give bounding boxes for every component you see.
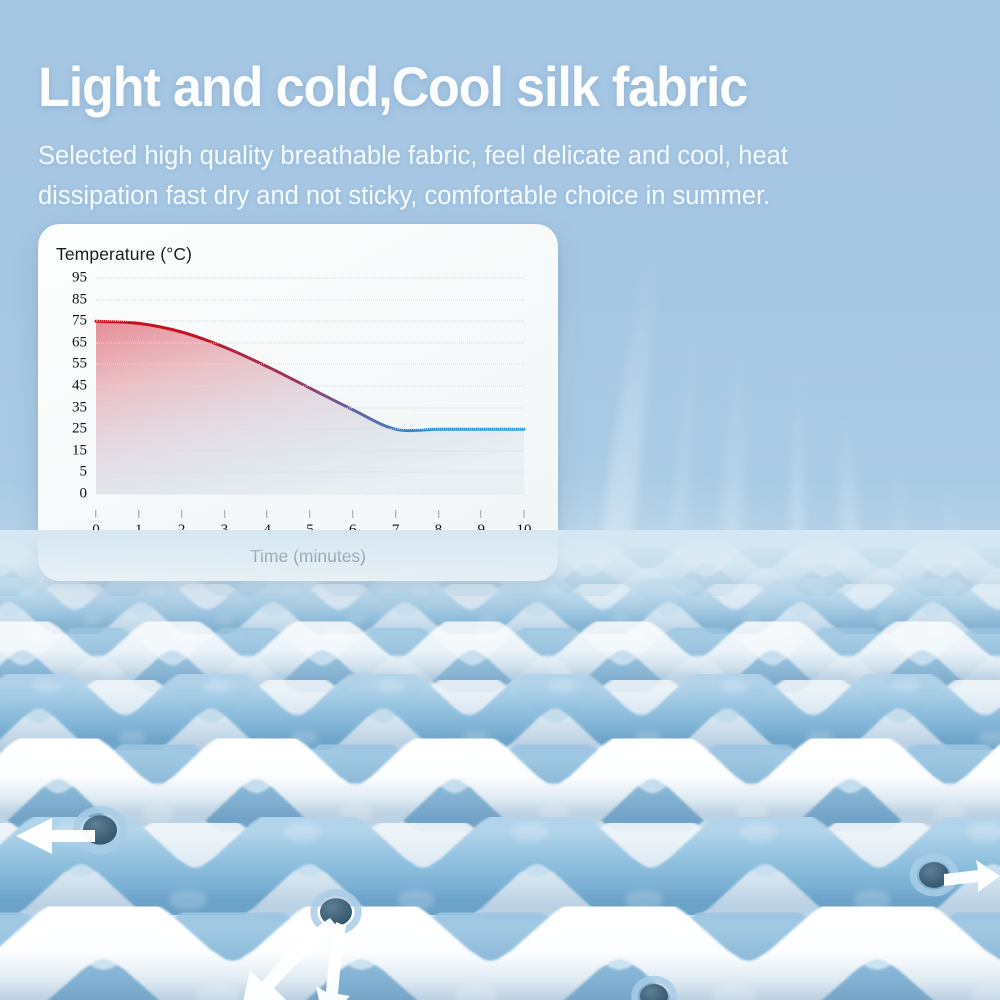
page-subtitle: Selected high quality breathable fabric,… [38,136,868,216]
chart-gridline [96,278,524,279]
chart-x-tick: 1 [135,510,143,539]
fabric-strand-highlight [149,587,167,597]
chart-x-tick-label: 5 [306,522,314,538]
chart-x-tick-label: 9 [477,522,485,538]
chart-y-tick-label: 25 [72,421,87,438]
fabric-strand-highlight [774,628,796,640]
fabric-strand-highlight [809,587,827,597]
chart-gridline [96,450,524,451]
fabric-strand-highlight [841,912,885,936]
chart-y-tick-label: 15 [72,442,87,459]
chart-gridline [96,364,524,365]
chart-x-axis-title: Time (minutes) [38,546,558,567]
chart-x-tick: 5 [306,510,314,539]
fabric-strand-highlight [324,628,346,640]
chart-y-tick-label: 75 [72,313,87,330]
chart-gridline [96,472,524,473]
chart-x-tick-label: 10 [517,522,532,538]
temperature-chart-card: Temperature (°C) [38,224,558,581]
fabric-strand-highlight [215,615,233,625]
fabric-strand-highlight [439,742,471,760]
chart-x-tick: 4 [263,510,271,539]
chart-x-tick-label: 4 [263,522,271,538]
fabric-strand-highlight [17,587,35,597]
fabric-strand-highlight [637,742,669,760]
chart-x-tick-label: 1 [135,522,143,538]
fabric-strand-highlight [241,742,273,760]
chart-gridline [96,494,524,495]
chart-y-tick-label: 65 [72,334,87,351]
fabric-strand-highlight [283,822,321,842]
chart-x-tick: 0 [92,510,100,539]
fabric-strand-highlight [11,554,27,562]
fabric-strand-highlight [720,679,748,693]
fabric-weave-image [0,530,1000,1000]
fabric-strand-highlight [583,912,627,936]
fabric-strand-highlight [892,679,920,693]
fabric-strand-highlight [677,587,695,597]
fabric-strand-highlight [511,822,549,842]
fabric-strand-highlight [548,679,576,693]
fabric-strand-highlight [837,554,853,562]
fabric-strand-highlight [249,668,271,680]
fabric-strand-highlight [413,587,431,597]
chart-y-tick-label: 95 [72,270,87,287]
chart-y-tick-label: 45 [72,378,87,395]
chart-gridline [96,321,524,322]
chart-gridline [96,342,524,343]
chart-x-tick-label: 0 [92,522,100,538]
chart-x-tick: 2 [178,510,186,539]
chart-x-axis-ticks: 012345678910 [96,510,524,550]
product-feature-page: Light and cold,Cool silk fabric Selected… [0,0,1000,1000]
chart-x-tick-label: 7 [392,522,400,538]
chart-x-tick-label: 3 [221,522,229,538]
page-title: Light and cold,Cool silk fabric [38,58,747,116]
fabric-strand-highlight [24,628,46,640]
fabric-strand-highlight [924,628,946,640]
fabric-weave-graphic [0,530,1000,1000]
fabric-strand-highlight [941,587,959,597]
chart-y-tick-label: 85 [72,291,87,308]
fabric-strand-highlight [739,822,777,842]
fabric-strand-highlight [955,554,971,562]
fabric-strand-highlight [875,615,893,625]
chart-x-tick-label: 2 [178,522,186,538]
fabric-strand-highlight [32,679,60,693]
chart-gridline [96,386,524,387]
chart-y-axis-title: Temperature (°C) [56,244,192,265]
fabric-strand-highlight [204,679,232,693]
chart-y-tick-label: 5 [80,464,88,481]
fabric-strand-highlight [835,742,867,760]
chart-x-tick: 9 [477,510,485,539]
chart-gridline [96,429,524,430]
chart-x-tick-label: 8 [435,522,443,538]
fabric-strand-highlight [545,587,563,597]
fabric-strand-highlight [281,587,299,597]
fabric-strand-highlight [43,742,75,760]
chart-x-tick: 3 [221,510,229,539]
fabric-strand-highlight [474,628,496,640]
fabric-strand-highlight [896,570,912,578]
chart-x-tick: 7 [392,510,400,539]
chart-y-tick-label: 35 [72,399,87,416]
fabric-strand-highlight [67,912,111,936]
fabric-row-3 [0,628,1000,683]
chart-x-tick: 8 [435,510,443,539]
fabric-strand-highlight [174,628,196,640]
fabric-strand-highlight [624,628,646,640]
chart-y-tick-label: 55 [72,356,87,373]
fabric-strand-highlight [376,679,404,693]
fabric-strand-highlight [719,554,735,562]
chart-gridline [96,407,524,408]
fabric-strand-highlight [601,554,617,562]
chart-x-tick-label: 6 [349,522,357,538]
chart-plot-area: 95857565554535251550 [96,278,524,494]
chart-gridline [96,299,524,300]
chart-y-tick-label: 0 [80,486,88,503]
chart-x-tick: 10 [517,510,532,539]
fabric-row-7 [0,912,1000,1000]
chart-x-tick: 6 [349,510,357,539]
